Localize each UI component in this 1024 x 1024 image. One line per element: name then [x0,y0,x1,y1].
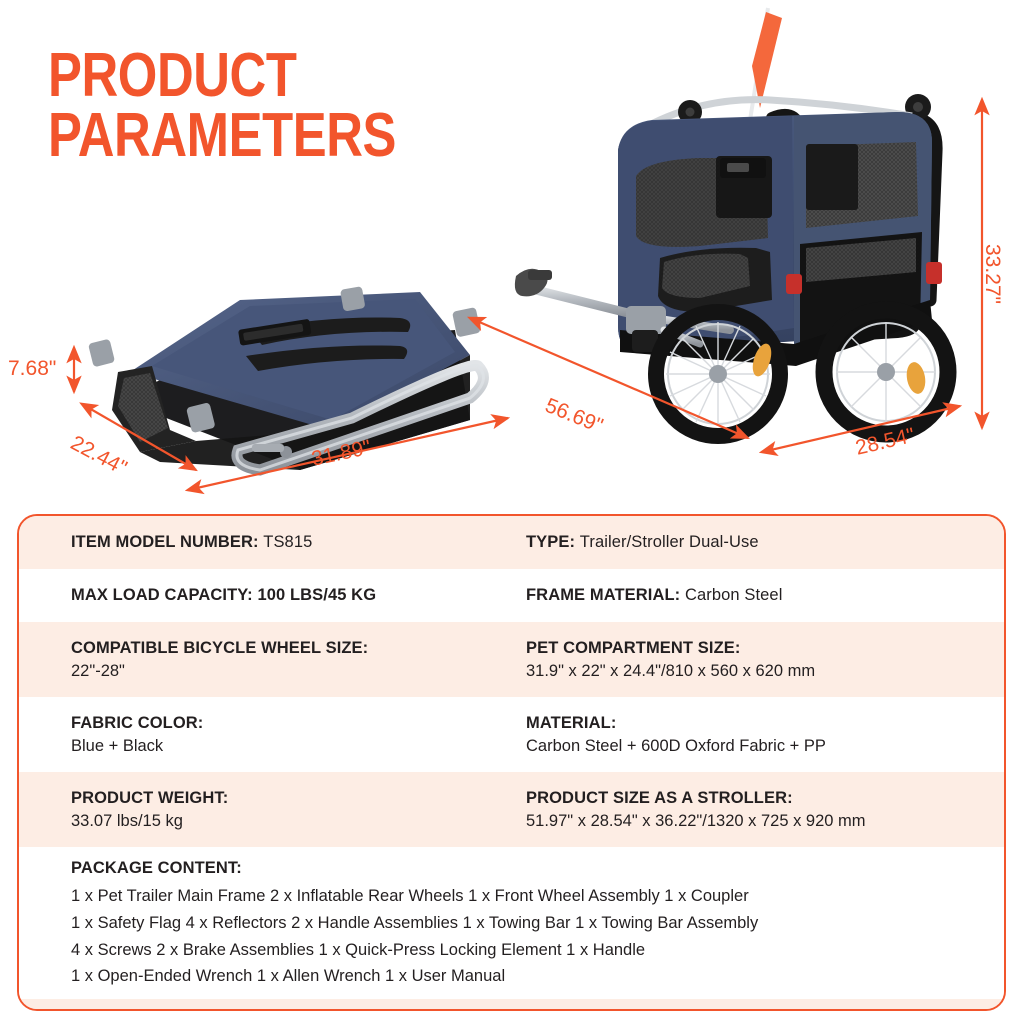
spec-cell: MAX LOAD CAPACITY: 100 LBS/45 KG [71,584,526,606]
spec-key: MATERIAL: [526,712,981,734]
spec-value: Blue + Black [71,735,526,757]
spec-key: COMPATIBLE BICYCLE WHEEL SIZE: [71,637,526,659]
spec-cell: PRODUCT SIZE AS A STROLLER: 51.97" x 28.… [526,772,981,847]
spec-cell: ITEM MODEL NUMBER: TS815 [71,531,526,553]
spec-value: Carbon Steel [685,586,783,604]
reflector [904,361,927,396]
spec-key: PET COMPARTMENT SIZE: [526,637,981,659]
specification-table: ITEM MODEL NUMBER: TS815 TYPE: Trailer/S… [17,514,1006,1011]
assembled-trailer-photo [515,8,948,436]
spec-cell: TYPE: Trailer/Stroller Dual-Use [526,531,981,553]
package-content-line: 1 x Safety Flag 4 x Reflectors 2 x Handl… [71,910,1004,937]
red-buckle [926,262,942,284]
package-content-key: PACKAGE CONTENT: [71,857,1004,879]
spec-key: FRAME MATERIAL: Carbon Steel [526,584,981,606]
table-row: COMPATIBLE BICYCLE WHEEL SIZE: 22"-28" P… [19,622,1004,697]
dimension-label-assembled-height: 33.27" [980,244,1004,304]
table-row: ITEM MODEL NUMBER: TS815 TYPE: Trailer/S… [19,516,1004,569]
spec-value: 33.07 lbs/15 kg [71,810,526,832]
spec-key: ITEM MODEL NUMBER: TS815 [71,531,526,553]
spec-key: PRODUCT WEIGHT: [71,787,526,809]
spec-value: TS815 [263,533,312,551]
spec-cell: COMPATIBLE BICYCLE WHEEL SIZE: 22"-28" [71,622,526,697]
table-row: PRODUCT WEIGHT: 33.07 lbs/15 kg PRODUCT … [19,772,1004,847]
spec-cell: FRAME MATERIAL: Carbon Steel [526,584,981,606]
spec-value: Carbon Steel + 600D Oxford Fabric + PP [526,735,981,757]
table-bottom-strip [19,999,1004,1011]
wheel-front [656,312,780,436]
package-content-line: 1 x Open-Ended Wrench 1 x Allen Wrench 1… [71,963,1004,990]
spec-value: Trailer/Stroller Dual-Use [580,533,759,551]
spec-cell: MATERIAL: Carbon Steel + 600D Oxford Fab… [526,697,981,772]
red-buckle [786,274,802,294]
dimension-label-folded-height: 7.68" [8,357,56,381]
spec-key: TYPE: Trailer/Stroller Dual-Use [526,531,981,553]
spec-value: 22"-28" [71,660,526,682]
spec-key: MAX LOAD CAPACITY: 100 LBS/45 KG [71,584,526,606]
spec-cell: PRODUCT WEIGHT: 33.07 lbs/15 kg [71,772,526,847]
spec-value: 51.97" x 28.54" x 36.22"/1320 x 725 x 92… [526,810,981,832]
spec-cell: PET COMPARTMENT SIZE: 31.9" x 22" x 24.4… [526,622,981,697]
package-content-line: 1 x Pet Trailer Main Frame 2 x Inflatabl… [71,883,1004,910]
package-content-line: 4 x Screws 2 x Brake Assemblies 1 x Quic… [71,937,1004,964]
wheel-rear [824,310,948,434]
table-row: MAX LOAD CAPACITY: 100 LBS/45 KG FRAME M… [19,569,1004,622]
product-illustration: 7.68" 22.44" 31.89" 56.69" 28.54" 33.27" [0,0,1024,510]
package-content-row: PACKAGE CONTENT: 1 x Pet Trailer Main Fr… [19,847,1004,999]
spec-value: 31.9" x 22" x 24.4"/810 x 560 x 620 mm [526,660,981,682]
table-row: FABRIC COLOR: Blue + Black MATERIAL: Car… [19,697,1004,772]
spec-key: PRODUCT SIZE AS A STROLLER: [526,787,981,809]
spec-cell: FABRIC COLOR: Blue + Black [71,697,526,772]
spec-key: FABRIC COLOR: [71,712,526,734]
